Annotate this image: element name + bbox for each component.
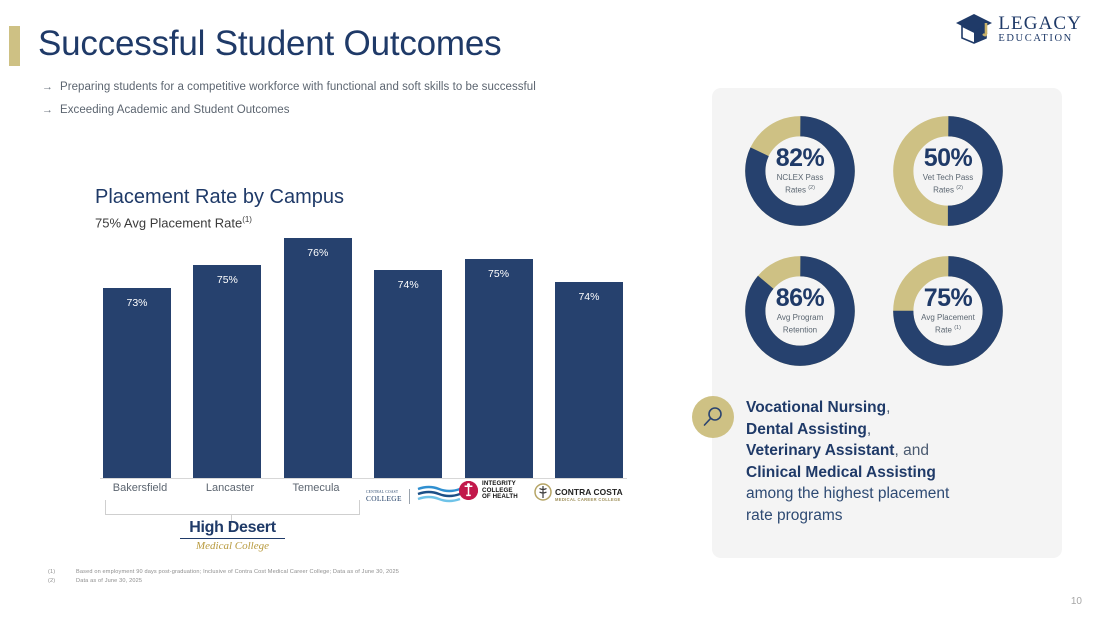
donut-label: Vet Tech Pass Rates (2) (923, 173, 974, 196)
arrow-icon: → (42, 79, 60, 95)
central-coast-line2: COLLEGE (366, 494, 402, 503)
donut-label-line2: Rates (785, 186, 806, 195)
chart-subtitle-footnote: (1) (242, 215, 252, 224)
donut-center-content: 86% Avg Program Retention (741, 252, 859, 370)
x-tick-temecula: Temecula (261, 482, 371, 494)
callout-sep-1: , (886, 399, 890, 416)
donut-nclex-pass-rates: 82% NCLEX Pass Rates (2) (741, 112, 859, 230)
donut-center-content: 82% NCLEX Pass Rates (2) (741, 112, 859, 230)
integrity-line3: OF HEALTH (482, 494, 518, 501)
donut-avg-program-retention: 86% Avg Program Retention (741, 252, 859, 370)
bar-series: 73% 75% 76% 74% 75% (103, 238, 623, 478)
donut-value: 86% (776, 286, 825, 311)
donut-vet-tech-pass-rates: 50% Vet Tech Pass Rates (2) (889, 112, 1007, 230)
bar-lancaster: 75% (193, 265, 261, 478)
program-veterinary-assistant: Veterinary Assistant (746, 442, 894, 459)
slide: Successful Student Outcomes → Preparing … (0, 0, 1100, 619)
divider (409, 489, 410, 504)
donut-value: 75% (924, 286, 973, 311)
contra-costa-wordmark: CONTRA COSTA MEDICAL CAREER COLLEGE (555, 488, 623, 502)
bar-column: 74% (374, 238, 442, 478)
bar-chart-plot: 73% 75% 76% 74% 75% (103, 238, 623, 478)
bar-contra-costa: 74% (555, 282, 623, 478)
bar-central-coast: 74% (374, 270, 442, 478)
central-coast-college-logo: CENTRAL COAST COLLEGE (366, 484, 461, 509)
bar-column: 75% (193, 238, 261, 478)
donut-label-line1: Avg Placement (921, 313, 975, 322)
high-desert-medical-college-logo: High Desert Medical College (180, 519, 285, 552)
donut-label-footnote: (1) (954, 325, 961, 331)
footnote-2-text: Data as of June 30, 2025 (76, 577, 142, 586)
bullet-list: → Preparing students for a competitive w… (42, 79, 682, 125)
integrity-wordmark: INTEGRITY COLLEGE OF HEALTH (482, 481, 518, 501)
contra-costa-line1: CONTRA COSTA (555, 488, 623, 497)
program-clinical-medical-assisting: Clinical Medical Assisting (746, 464, 936, 481)
donut-center-content: 75% Avg Placement Rate (1) (889, 252, 1007, 370)
donut-avg-placement-rate: 75% Avg Placement Rate (1) (889, 252, 1007, 370)
donut-label-line2: Rates (933, 186, 954, 195)
graduation-cap-icon (955, 12, 993, 46)
high-desert-line2: Medical College (180, 540, 285, 552)
bar-integrity: 75% (465, 259, 533, 478)
callout-sep-3: , and (894, 442, 928, 459)
legacy-logo-line2: EDUCATION (998, 34, 1082, 45)
donut-label: Avg Placement Rate (1) (921, 313, 975, 336)
bar-value-label: 73% (103, 297, 171, 309)
list-item: → Exceeding Academic and Student Outcome… (42, 102, 682, 118)
donut-label-footnote: (2) (956, 185, 963, 191)
bar-value-label: 76% (284, 247, 352, 259)
program-vocational-nursing: Vocational Nursing (746, 399, 886, 416)
footnote-1-number: (1) (48, 568, 76, 577)
list-item: → Preparing students for a competitive w… (42, 79, 682, 95)
bar-column: 75% (465, 238, 533, 478)
title-accent-bar (9, 26, 20, 66)
high-desert-line1: High Desert (180, 519, 285, 539)
program-dental-assisting: Dental Assisting (746, 421, 867, 438)
donut-label-footnote: (2) (808, 185, 815, 191)
donut-label-line2: Rate (935, 326, 952, 335)
central-coast-line1: CENTRAL COAST (366, 490, 402, 494)
bar-column: 73% (103, 238, 171, 478)
caduceus-badge-icon (534, 483, 552, 506)
footnotes: (1) Based on employment 90 days post-gra… (48, 568, 399, 585)
callout-text: Vocational Nursing, Dental Assisting, Ve… (746, 397, 1036, 526)
donut-label: NCLEX Pass Rates (2) (777, 173, 824, 196)
donut-center-content: 50% Vet Tech Pass Rates (2) (889, 112, 1007, 230)
legacy-logo-line1: LEGACY (998, 14, 1082, 33)
legacy-logo-text: LEGACY EDUCATION (998, 14, 1082, 45)
callout-sep-2: , (867, 421, 871, 438)
donut-chart-group: 82% NCLEX Pass Rates (2) 50% Vet Tech Pa… (741, 112, 1036, 397)
chart-subtitle-text: 75% Avg Placement Rate (95, 215, 242, 230)
central-coast-wordmark: CENTRAL COAST COLLEGE (366, 490, 402, 504)
x-axis-line (100, 478, 627, 479)
bar-value-label: 75% (465, 268, 533, 280)
donut-value: 50% (924, 146, 973, 171)
callout-tail-line1: among the highest placement (746, 485, 949, 502)
page-title: Successful Student Outcomes (38, 22, 501, 66)
contra-costa-medical-career-college-logo: CONTRA COSTA MEDICAL CAREER COLLEGE (534, 483, 623, 506)
donut-value: 82% (776, 146, 825, 171)
bullet-text: Exceeding Academic and Student Outcomes (60, 102, 290, 118)
bar-temecula: 76% (284, 238, 352, 478)
donut-label: Avg Program Retention (777, 313, 824, 336)
bar-bakersfield: 73% (103, 288, 171, 478)
donut-label-line1: Avg Program (777, 313, 824, 322)
bar-column: 74% (555, 238, 623, 478)
bar-value-label: 74% (555, 291, 623, 303)
magnifier-icon (692, 396, 734, 438)
wave-icon (417, 484, 461, 509)
integrity-college-of-health-logo: INTEGRITY COLLEGE OF HEALTH (459, 481, 518, 501)
bar-value-label: 74% (374, 279, 442, 291)
chart-subtitle: 75% Avg Placement Rate(1) (95, 215, 252, 230)
footnote-1: (1) Based on employment 90 days post-gra… (48, 568, 399, 577)
callout-tail-line2: rate programs (746, 507, 842, 524)
page-number: 10 (1071, 596, 1082, 607)
donut-label-line1: Vet Tech Pass (923, 173, 974, 182)
chart-title: Placement Rate by Campus (95, 186, 344, 209)
footnote-2-number: (2) (48, 577, 76, 586)
bar-value-label: 75% (193, 274, 261, 286)
bar-column: 76% (284, 238, 352, 478)
campus-group-bracket (105, 500, 360, 515)
integrity-seal-icon (459, 481, 478, 500)
footnote-1-text: Based on employment 90 days post-graduat… (76, 568, 399, 577)
donut-label-line1: NCLEX Pass (777, 173, 824, 182)
footnote-2: (2) Data as of June 30, 2025 (48, 577, 399, 586)
contra-costa-line2: MEDICAL CAREER COLLEGE (555, 497, 623, 502)
arrow-icon: → (42, 102, 60, 118)
donut-label-line2: Retention (783, 326, 817, 335)
bullet-text: Preparing students for a competitive wor… (60, 79, 536, 95)
legacy-education-logo: LEGACY EDUCATION (955, 12, 1082, 46)
